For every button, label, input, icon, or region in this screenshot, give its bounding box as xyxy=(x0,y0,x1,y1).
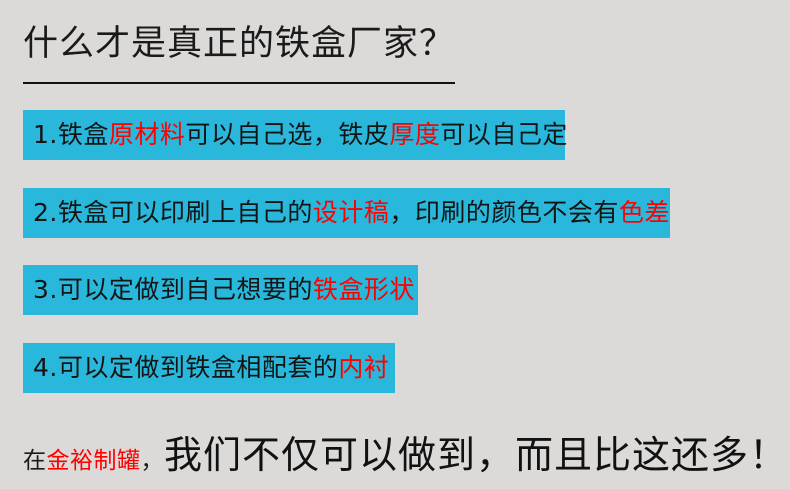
plain-text: 1.铁盒 xyxy=(33,120,109,149)
feature-row-4-text: 4.可以定做到铁盒相配套的内衬 xyxy=(33,343,389,393)
feature-list: 1.铁盒原材料可以自己选，铁皮厚度可以自己定 2.铁盒可以印刷上自己的设计稿，印… xyxy=(0,0,790,489)
feature-row-2-text: 2.铁盒可以印刷上自己的设计稿，印刷的颜色不会有色差 xyxy=(33,188,670,238)
plain-text: 可以自己定 xyxy=(440,120,568,149)
plain-text: 3.可以定做到自己想要的 xyxy=(33,275,313,304)
footer-prefix: 在 xyxy=(23,436,47,486)
footer-brand: 金裕制罐 xyxy=(47,436,141,486)
feature-row-2: 2.铁盒可以印刷上自己的设计稿，印刷的颜色不会有色差 xyxy=(23,188,670,238)
plain-text: 2.铁盒可以印刷上自己的 xyxy=(33,198,313,227)
emphasis-text: 色差 xyxy=(619,198,670,227)
plain-text: ，印刷的颜色不会有 xyxy=(389,198,619,227)
feature-row-3-text: 3.可以定做到自己想要的铁盒形状 xyxy=(33,265,415,315)
plain-text: 4.可以定做到铁盒相配套的 xyxy=(33,353,338,382)
promo-banner: 什么才是真正的铁盒厂家？ 1.铁盒原材料可以自己选，铁皮厚度可以自己定 2.铁盒… xyxy=(0,0,790,489)
emphasis-text: 厚度 xyxy=(389,120,440,149)
feature-row-3: 3.可以定做到自己想要的铁盒形状 xyxy=(23,265,418,315)
emphasis-text: 设计稿 xyxy=(313,198,390,227)
emphasis-text: 原材料 xyxy=(109,120,186,149)
feature-row-1: 1.铁盒原材料可以自己选，铁皮厚度可以自己定 xyxy=(23,110,565,160)
plain-text: 可以自己选，铁皮 xyxy=(185,120,389,149)
footer-headline: 我们不仅可以做到，而且比这还多！ xyxy=(164,430,788,480)
emphasis-text: 铁盒形状 xyxy=(313,275,415,304)
emphasis-text: 内衬 xyxy=(338,353,389,382)
footer-statement: 在 金裕制罐 ， 我们不仅可以做到，而且比这还多！ xyxy=(23,430,788,486)
footer-comma: ， xyxy=(141,436,165,486)
feature-row-1-text: 1.铁盒原材料可以自己选，铁皮厚度可以自己定 xyxy=(33,110,568,160)
feature-row-4: 4.可以定做到铁盒相配套的内衬 xyxy=(23,343,395,393)
